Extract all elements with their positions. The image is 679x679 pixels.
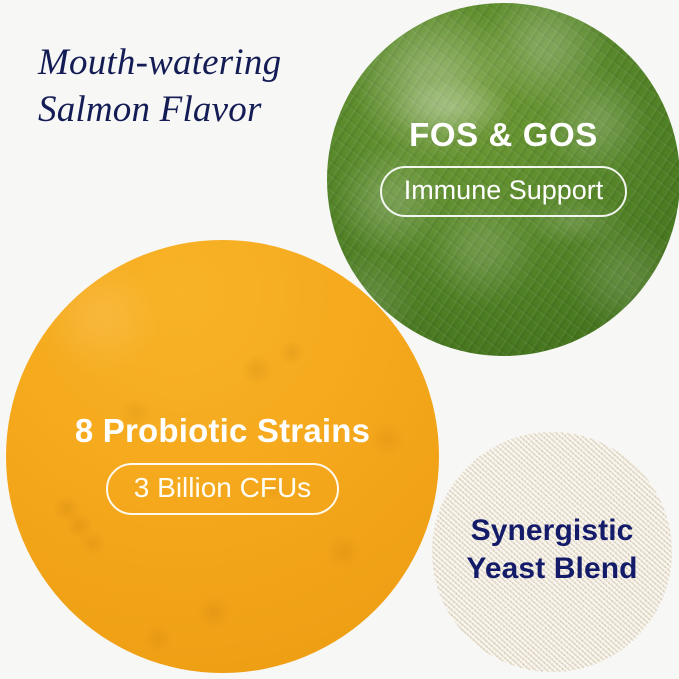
feature-circle-yeast-blend	[432, 432, 672, 672]
feature-circle-probiotic-strains	[6, 240, 439, 673]
product-feature-graphic: Mouth-watering Salmon Flavor FOS & GOS I…	[0, 0, 679, 679]
feature-circle-fos-gos	[327, 3, 679, 356]
page-title: Mouth-watering Salmon Flavor	[38, 40, 348, 133]
